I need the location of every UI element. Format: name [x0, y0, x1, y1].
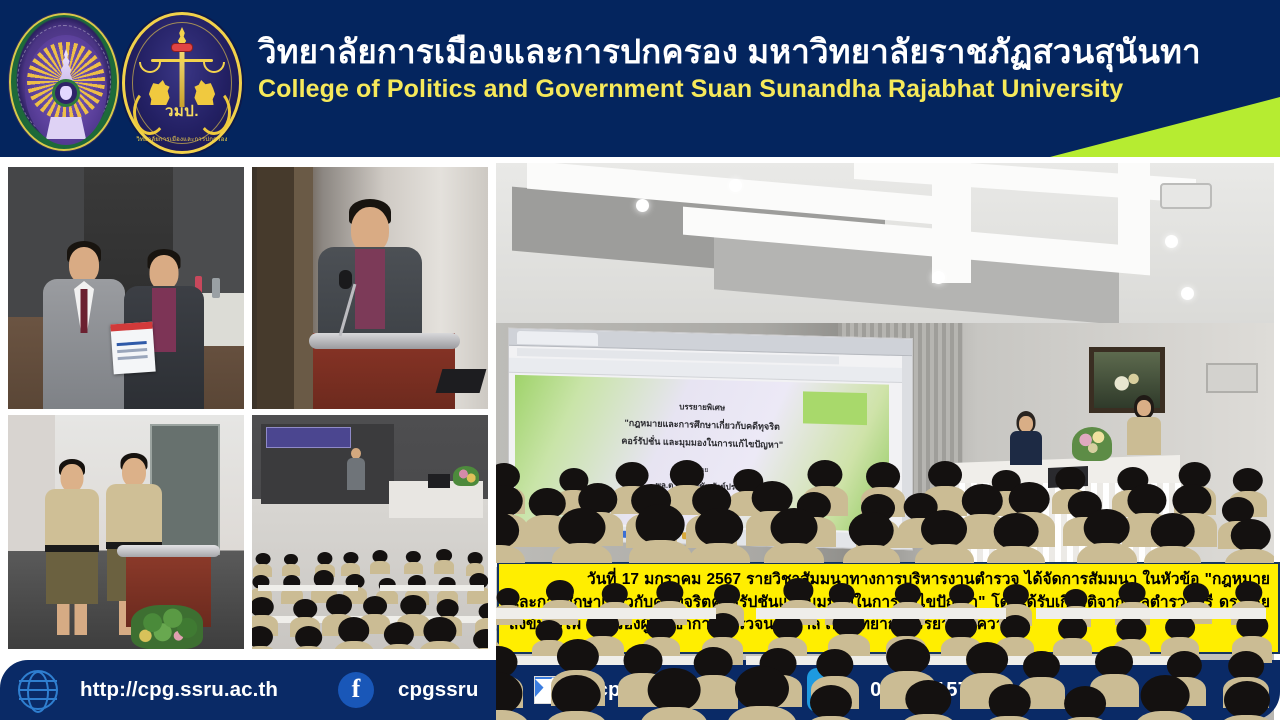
ssru-seal-logo — [9, 8, 119, 153]
p4-presenter-body — [347, 458, 365, 490]
audience-figure-head — [602, 583, 628, 605]
audience-figure-head — [372, 550, 387, 563]
poster-page: วมป. วิทยาลัยการเมืองและการปกครอง วิทยาล… — [0, 0, 1280, 720]
audience-figure-head — [784, 578, 813, 602]
audience-figure-head — [1117, 617, 1146, 641]
p3-woman-left-head — [61, 464, 84, 492]
audience-figure-head — [558, 508, 605, 547]
ssru-seal-inner — [25, 35, 107, 145]
ssru-pedestal-icon — [46, 117, 86, 139]
audience-figure-head — [694, 647, 733, 679]
p5-audience-group — [496, 427, 1274, 563]
audience-figure-head — [343, 552, 358, 565]
audience-figure-head — [552, 675, 601, 716]
audience-figure-head — [1127, 484, 1166, 517]
p3-woman-left-belt — [45, 545, 99, 552]
audience-figure-head — [1119, 582, 1146, 604]
p5-ceiling-beam-5 — [1118, 163, 1149, 259]
audience-figure-head — [1000, 615, 1030, 640]
audience-figure-head — [866, 462, 900, 490]
audience-figure-head — [1224, 681, 1270, 719]
page-header: วมป. วิทยาลัยการเมืองและการปกครอง วิทยาล… — [0, 0, 1280, 157]
audience-figure-head — [623, 644, 662, 676]
p1-flask — [212, 278, 220, 298]
p3-woman-left — [41, 459, 103, 635]
audience-figure-head — [988, 684, 1031, 720]
audience-figure-head — [1009, 482, 1050, 516]
globe-icon — [18, 670, 58, 710]
p2-door-left — [257, 167, 295, 409]
audience-figure-head — [406, 551, 420, 563]
p2-podium-top — [309, 333, 460, 349]
audience-figure-head — [636, 504, 685, 545]
photo-speaker-at-podium — [252, 167, 488, 409]
audience-figure-head — [1233, 468, 1263, 493]
p3-woman-right-uniform — [106, 484, 162, 542]
p4-presenter — [346, 448, 366, 490]
audience-figure-head — [536, 620, 563, 643]
audience-figure — [496, 588, 523, 625]
p3-woman-right-head — [122, 458, 146, 487]
p3-podium-top — [117, 545, 221, 557]
audience-figure-head — [436, 599, 459, 618]
audience-figure-head — [949, 584, 975, 605]
p2-speaker-shirt — [355, 249, 385, 329]
audience-figure — [434, 549, 454, 574]
audience-figure-head — [1083, 509, 1130, 548]
footer-facebook-label: cpgssru — [398, 678, 478, 702]
audience-figure-head — [1023, 651, 1059, 681]
photo-two-women-at-podium — [8, 415, 244, 649]
p2-microphone-icon — [339, 270, 352, 289]
p1-person-left-tie — [81, 289, 88, 333]
audience-figure-head — [529, 488, 565, 518]
p1-certificate — [110, 322, 155, 375]
audience-figure — [282, 554, 300, 576]
audience-figure-head — [648, 668, 701, 712]
audience-figure-head — [714, 584, 740, 606]
footer-website-label: http://cpg.ssru.ac.th — [80, 678, 278, 702]
audience-figure — [404, 551, 422, 574]
audience-figure-head — [735, 666, 789, 711]
p1-person-right-shirt — [152, 288, 176, 352]
cpg-sword-icon — [180, 45, 185, 107]
audience-figure — [370, 550, 389, 574]
audience-figure-head — [1002, 584, 1028, 606]
cpg-ring-text: วิทยาลัยการเมืองและการปกครอง — [125, 134, 239, 144]
cpg-seal-logo: วมป. วิทยาลัยการเมืองและการปกครอง — [122, 8, 242, 156]
audience-figure-head — [252, 597, 274, 617]
audience-figure-head — [556, 639, 598, 674]
p5-wall-vent — [1206, 363, 1258, 393]
photo-lecture-hall-audience — [252, 415, 488, 649]
p5-downlight-5 — [1181, 287, 1194, 300]
cpg-abbreviation: วมป. — [125, 99, 239, 123]
p1-person-right-head — [150, 255, 179, 290]
audience-figure-head — [293, 599, 317, 619]
p3-flower-arrangement — [131, 605, 203, 649]
audience-figure-head — [921, 510, 967, 548]
audience-figure-head — [1095, 646, 1133, 678]
footer-website[interactable]: http://cpg.ssru.ac.th — [18, 660, 278, 720]
audience-figure-head — [895, 583, 921, 605]
p3-woman-left-skirt — [46, 552, 98, 604]
audience-figure — [253, 553, 272, 577]
p1-person-left-head — [69, 247, 99, 283]
audience-figure-head — [255, 553, 270, 565]
audience-figure-head — [1173, 484, 1212, 517]
audience-figure-head — [928, 461, 962, 489]
audience-figure-head — [816, 649, 853, 680]
audience-figure-head — [317, 552, 332, 565]
p3-woman-left-legs — [57, 604, 87, 635]
p5-projector — [1160, 183, 1212, 209]
audience-figure — [341, 552, 360, 576]
photo-main-seminar-room: บรรยายพิเศษ "กฎหมายและการศึกษาเกี่ยวกับค… — [496, 163, 1274, 563]
audience-figure-head — [473, 629, 488, 649]
audience-figure-head — [478, 603, 488, 620]
p2-door-right — [294, 167, 313, 409]
audience-figure-head — [886, 639, 930, 675]
audience-figure-head — [1151, 513, 1196, 550]
audience-figure-head — [810, 685, 852, 720]
cpg-seal-outer-ring: วมป. วิทยาลัยการเมืองและการปกครอง — [122, 12, 242, 154]
audience-figure-head — [1058, 616, 1088, 641]
audience-figure-head — [1228, 651, 1264, 681]
p5-downlight-4 — [1165, 235, 1178, 248]
p5-ceiling-beam-4 — [932, 163, 971, 283]
audience-figure-head — [906, 680, 951, 718]
audience-figure-head — [994, 513, 1039, 550]
audience-figure-head — [284, 554, 298, 566]
audience-figure-head — [1231, 519, 1272, 553]
footer-facebook[interactable]: cpgssru — [338, 660, 478, 720]
audience-figure-head — [252, 626, 273, 648]
p3-woman-left-uniform — [45, 489, 99, 545]
audience-figure-head — [401, 595, 427, 616]
audience-desk — [506, 656, 706, 665]
audience-figure-head — [962, 484, 1002, 518]
ssru-seal-outer-ring — [9, 13, 119, 151]
audience-figure-head — [338, 617, 370, 643]
audience-figure-head — [670, 460, 704, 489]
p5-downlight-3 — [932, 271, 945, 284]
audience-figure-head — [436, 549, 452, 562]
p5-downlight-1 — [636, 199, 649, 212]
cpg-hilt-icon — [171, 43, 193, 52]
audience-figure-head — [966, 642, 1008, 677]
audience-figure-head — [695, 508, 743, 548]
audience-figure-head — [849, 512, 894, 549]
p5-standing-person-face — [1137, 400, 1151, 416]
header-titles: วิทยาลัยการเมืองและการปกครอง มหาวิทยาลัย… — [258, 31, 1078, 106]
audience-desk — [258, 585, 358, 591]
audience-desk — [380, 585, 484, 591]
p4-laptop — [428, 474, 450, 488]
audience-figure-head — [468, 552, 483, 564]
audience-desk — [756, 608, 1006, 619]
audience-figure-head — [829, 583, 855, 605]
header-title-thai: วิทยาลัยการเมืองและการปกครอง มหาวิทยาลัย… — [258, 31, 1078, 72]
audience-figure-head — [656, 581, 683, 604]
audience-figure-head — [1141, 675, 1190, 716]
audience-figure-head — [1064, 589, 1087, 609]
ssru-medal-icon — [52, 79, 80, 107]
photo-certificate-presentation — [8, 167, 244, 409]
audience-figure-head — [326, 594, 352, 616]
audience-figure-head — [497, 588, 520, 607]
header-lime-accent-shape — [1050, 97, 1280, 157]
p2-laptop — [436, 369, 487, 393]
audience-figure-head — [423, 617, 456, 645]
p5-browser-tab — [517, 331, 598, 346]
p4-room-label — [266, 427, 351, 448]
audience-figure-head — [1235, 581, 1262, 604]
audience-figure-head — [295, 626, 323, 649]
header-title-english: College of Politics and Government Suan … — [258, 74, 1078, 105]
audience-figure-head — [1064, 686, 1106, 720]
audience-figure-head — [384, 622, 414, 647]
audience-figure-head — [808, 460, 843, 489]
audience-figure-head — [1182, 583, 1208, 605]
audience-desk — [496, 608, 716, 619]
facebook-icon — [338, 672, 374, 708]
audience-desk — [1036, 608, 1266, 619]
audience-figure-head — [771, 508, 818, 547]
p4-bouquet — [453, 466, 479, 486]
audience-figure-head — [1056, 467, 1085, 491]
audience-figure-head — [546, 580, 574, 603]
audience-figure-head — [363, 596, 387, 616]
